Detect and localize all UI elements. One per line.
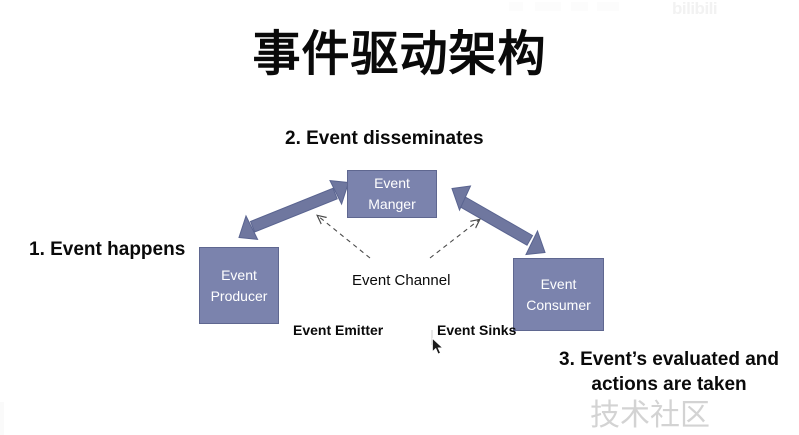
node-producer-line1: Event — [221, 265, 257, 286]
node-consumer-line1: Event — [541, 274, 577, 295]
node-manager-line2: Manger — [368, 194, 415, 215]
step-1-label: 1. Event happens — [29, 239, 185, 261]
arrow-manager-consumer — [452, 186, 545, 255]
event-emitter-label: Event Emitter — [293, 322, 383, 338]
event-channel-label: Event Channel — [352, 272, 450, 289]
node-producer-line2: Producer — [211, 286, 268, 307]
mouse-cursor — [432, 338, 444, 355]
node-event-producer[interactable]: Event Producer — [199, 247, 279, 324]
dashed-arrow-right — [430, 220, 479, 258]
arrow-producer-manager — [221, 172, 350, 248]
node-event-manager[interactable]: Event Manger — [347, 170, 437, 218]
slide-title: 事件驱动架构 — [0, 14, 799, 84]
step-3-label: 3. Event’s evaluated andactions are take… — [556, 347, 782, 398]
dashed-arrow-left — [318, 216, 370, 258]
step-2-label: 2. Event disseminates — [285, 128, 484, 150]
node-consumer-line2: Consumer — [526, 295, 591, 316]
node-manager-line1: Event — [374, 173, 410, 194]
left-edge-strip — [0, 402, 4, 435]
slide-canvas: bilibili 技术社区 事件驱动架构 — [0, 0, 799, 435]
node-event-consumer[interactable]: Event Consumer — [513, 258, 604, 331]
event-sinks-label: Event Sinks — [437, 322, 516, 338]
